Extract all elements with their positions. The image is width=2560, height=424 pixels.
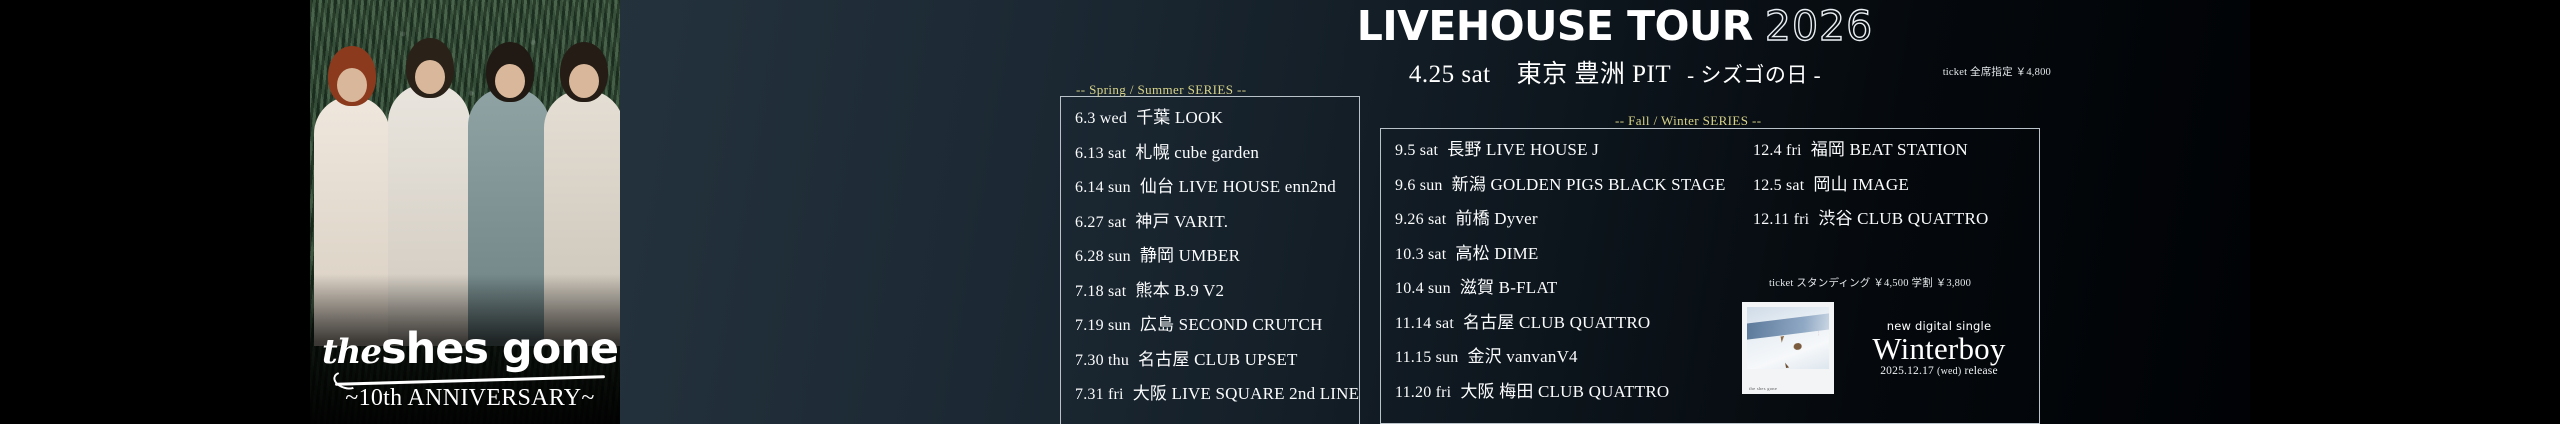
main-show-venue: 東京 豊洲 PIT xyxy=(1517,61,1672,88)
fall-winter-date-list-left: 9.5 sat長野 LIVE HOUSE J9.6 sun新潟 GOLDEN P… xyxy=(1395,141,1726,417)
tour-date-row: 7.19 sun広島 SECOND CRUTCH xyxy=(1075,316,1359,334)
tour-date-row: 9.6 sun新潟 GOLDEN PIGS BLACK STAGE xyxy=(1395,176,1726,194)
tour-date-row: 6.28 sun静岡 UMBER xyxy=(1075,247,1359,265)
tour-date-row: 6.14 sun仙台 LIVE HOUSE enn2nd xyxy=(1075,178,1359,196)
new-single-block: the shes gone new digital single Winterb… xyxy=(1742,294,2030,402)
artist-logo-wordmark: theshes gone xyxy=(320,328,620,371)
artist-logo-name: shes gone xyxy=(381,324,618,374)
tour-date-row: 9.26 sat前橋 Dyver xyxy=(1395,210,1726,228)
tour-date: 6.13 sat xyxy=(1075,145,1126,162)
tour-date: 11.15 sun xyxy=(1395,349,1458,366)
single-release-word: release xyxy=(1964,365,1997,377)
tour-date: 6.28 sun xyxy=(1075,248,1131,265)
tour-venue: 名古屋 CLUB UPSET xyxy=(1138,350,1298,369)
single-release-day: (wed) xyxy=(1937,366,1961,377)
tour-poster: theshes gone ~10th ANNIVERSARY~ LIVEHOUS… xyxy=(0,0,2560,424)
tour-venue: 名古屋 CLUB QUATTRO xyxy=(1463,313,1650,332)
tour-date: 9.6 sun xyxy=(1395,177,1443,194)
tour-date: 7.18 sat xyxy=(1075,283,1126,300)
tour-date: 10.4 sun xyxy=(1395,280,1451,297)
tour-venue: 金沢 vanvanV4 xyxy=(1467,347,1577,366)
tour-title: LIVEHOUSE TOUR xyxy=(1357,2,1753,50)
tour-date-row: 6.13 sat札幌 cube garden xyxy=(1075,144,1359,162)
tour-venue: 渋谷 CLUB QUATTRO xyxy=(1818,209,1988,228)
jacket-art-image xyxy=(1747,307,1829,369)
tour-date: 7.31 fri xyxy=(1075,386,1124,403)
tour-date-row: 11.14 sat名古屋 CLUB QUATTRO xyxy=(1395,314,1726,332)
fall-winter-label: -- Fall / Winter SERIES -- xyxy=(1615,113,1761,129)
spring-summer-date-list: 6.3 wed千葉 LOOK6.13 sat札幌 cube garden6.14… xyxy=(1075,109,1359,403)
main-show-subtitle: - シズゴの日 - xyxy=(1687,63,1821,87)
tour-date: 9.5 sat xyxy=(1395,142,1438,159)
tour-date: 11.14 sat xyxy=(1395,315,1454,332)
single-release-date: 2025.12.17 xyxy=(1880,365,1934,377)
tour-venue: 静岡 UMBER xyxy=(1140,246,1240,265)
jacket-caption: the shes gone xyxy=(1749,386,1777,391)
tour-date-row: 7.30 thu名古屋 CLUB UPSET xyxy=(1075,351,1359,369)
tour-date-row: 6.3 wed千葉 LOOK xyxy=(1075,109,1359,127)
tour-date-row: 9.5 sat長野 LIVE HOUSE J xyxy=(1395,141,1726,159)
artist-logo: theshes gone ~10th ANNIVERSARY~ xyxy=(320,328,620,412)
tour-date-row: 10.3 sat高松 DIME xyxy=(1395,245,1726,263)
tour-venue: 熊本 B.9 V2 xyxy=(1135,281,1224,300)
tour-date-row: 12.11 fri渋谷 CLUB QUATTRO xyxy=(1753,210,1988,228)
tour-venue: 神戸 VARIT. xyxy=(1135,212,1228,231)
tour-date: 7.19 sun xyxy=(1075,317,1131,334)
spring-summer-dates-box: 6.3 wed千葉 LOOK6.13 sat札幌 cube garden6.14… xyxy=(1060,96,1360,424)
main-show-ticket-note: ticket 全席指定 ￥4,800 xyxy=(1943,64,2051,79)
tour-venue: 福岡 BEAT STATION xyxy=(1811,140,1968,159)
tour-venue: 大阪 梅田 CLUB QUATTRO xyxy=(1460,382,1669,401)
main-show-line: 4.25 sat東京 豊洲 PIT- シズゴの日 - xyxy=(1265,54,1965,90)
tour-date: 11.20 fri xyxy=(1395,384,1451,401)
band-member-4-head xyxy=(560,42,608,102)
tour-date-row: 6.27 sat神戸 VARIT. xyxy=(1075,213,1359,231)
tour-venue: 仙台 LIVE HOUSE enn2nd xyxy=(1140,177,1336,196)
fall-winter-date-list-right: 12.4 fri福岡 BEAT STATION12.5 sat岡山 IMAGE1… xyxy=(1753,141,1988,245)
band-member-1-head xyxy=(328,46,376,106)
tour-date: 12.5 sat xyxy=(1753,177,1804,194)
tour-date-row: 12.5 sat岡山 IMAGE xyxy=(1753,176,1988,194)
tour-venue: 千葉 LOOK xyxy=(1136,108,1223,127)
tour-venue: 前橋 Dyver xyxy=(1455,209,1537,228)
tour-year: 2026 xyxy=(1765,2,1873,50)
tour-date-row: 11.15 sun金沢 vanvanV4 xyxy=(1395,348,1726,366)
tour-venue: 高松 DIME xyxy=(1455,244,1538,263)
anniversary-label: ~10th ANNIVERSARY~ xyxy=(320,385,620,412)
band-member-3-head xyxy=(486,42,534,102)
tour-date: 7.30 thu xyxy=(1075,352,1129,369)
tour-date-row: 7.18 sat熊本 B.9 V2 xyxy=(1075,282,1359,300)
single-text-block: new digital single Winterboy 2025.12.17 … xyxy=(1848,319,2030,378)
tour-venue: 広島 SECOND CRUTCH xyxy=(1140,315,1323,334)
single-release-line: 2025.12.17 (wed) release xyxy=(1848,365,2030,377)
band-member-2-head xyxy=(406,38,454,98)
tour-date-row: 12.4 fri福岡 BEAT STATION xyxy=(1753,141,1988,159)
tour-date-row: 10.4 sun滋賀 B-FLAT xyxy=(1395,279,1726,297)
single-jacket-artwork: the shes gone xyxy=(1742,302,1834,394)
logo-swash-underline xyxy=(331,372,609,386)
tour-venue: 大阪 LIVE SQUARE 2nd LINE xyxy=(1133,384,1360,403)
spring-summer-label: -- Spring / Summer SERIES -- xyxy=(1076,82,1246,98)
tour-venue: 岡山 IMAGE xyxy=(1813,175,1909,194)
tour-date-row: 11.20 fri大阪 梅田 CLUB QUATTRO xyxy=(1395,383,1726,401)
tour-date: 10.3 sat xyxy=(1395,246,1446,263)
tour-date: 12.4 fri xyxy=(1753,142,1802,159)
tour-date: 9.26 sat xyxy=(1395,211,1446,228)
single-title: Winterboy xyxy=(1848,333,2030,366)
fall-winter-ticket-note: ticket スタンディング ￥4,500 学割 ￥3,800 xyxy=(1769,275,1971,290)
tour-venue: 長野 LIVE HOUSE J xyxy=(1447,140,1599,159)
tour-venue: 札幌 cube garden xyxy=(1135,143,1259,162)
tour-date: 6.27 sat xyxy=(1075,214,1126,231)
artist-logo-the: the xyxy=(322,332,381,372)
tour-date-row: 7.31 fri大阪 LIVE SQUARE 2nd LINE xyxy=(1075,385,1359,403)
headline-block: LIVEHOUSE TOUR2026 4.25 sat東京 豊洲 PIT- シズ… xyxy=(1265,2,1965,90)
tour-date: 6.3 wed xyxy=(1075,110,1127,127)
tour-date: 6.14 sun xyxy=(1075,179,1131,196)
main-show-date: 4.25 sat xyxy=(1409,61,1491,88)
tour-date: 12.11 fri xyxy=(1753,211,1809,228)
tour-venue: 新潟 GOLDEN PIGS BLACK STAGE xyxy=(1452,175,1726,194)
tour-venue: 滋賀 B-FLAT xyxy=(1460,278,1558,297)
